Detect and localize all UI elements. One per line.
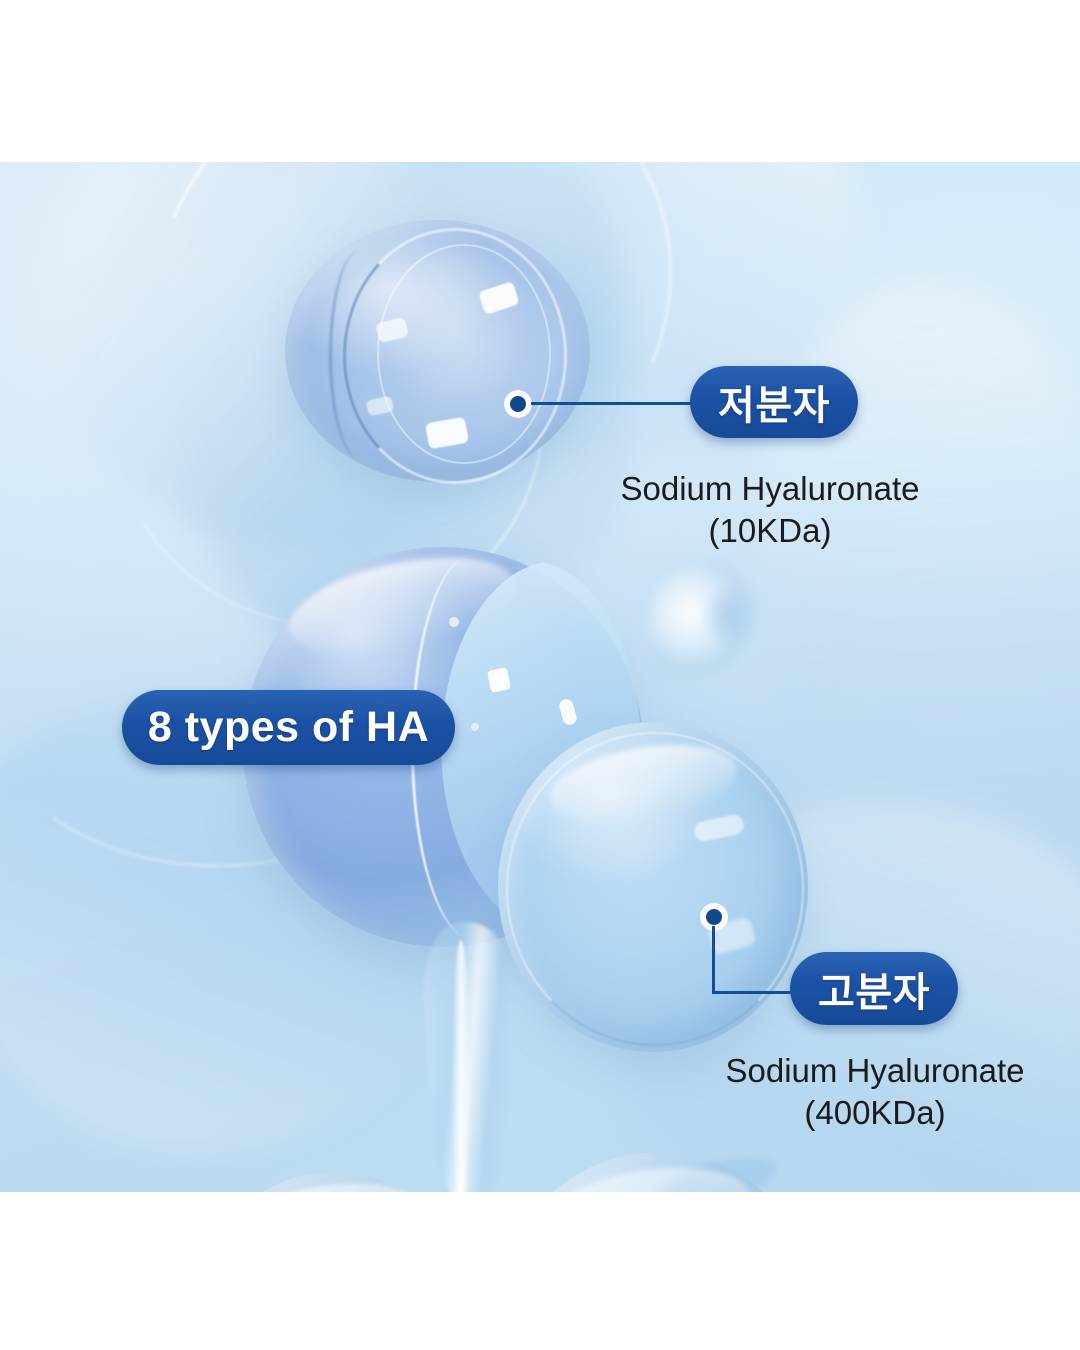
leader-line-low-molecular <box>531 402 691 405</box>
droplet-gloss <box>222 1172 431 1192</box>
badge-8-types-of-ha[interactable]: 8 types of HA <box>122 690 455 765</box>
bubble-core <box>700 580 754 650</box>
badge-low-molecular[interactable]: 저분자 <box>690 366 858 438</box>
blurred-bubble <box>648 562 766 688</box>
badge-high-molecular[interactable]: 고분자 <box>790 952 958 1025</box>
leader-line-high-vertical <box>712 926 715 994</box>
caption-line-1: Sodium Hyaluronate <box>575 1050 1080 1092</box>
caption-line-2: (10KDa) <box>470 510 1070 552</box>
caption-line-2: (400KDa) <box>575 1092 1080 1134</box>
hyaluronic-sphere-top <box>285 220 590 482</box>
sphere-rim-shadow <box>329 250 392 460</box>
caption-low-molecular: Sodium Hyaluronate (10KDa) <box>470 468 1070 552</box>
leader-line-high-horizontal <box>712 991 794 994</box>
sphere-micro-bubble <box>471 723 479 731</box>
marker-dot-low-molecular <box>505 391 531 417</box>
caption-line-1: Sodium Hyaluronate <box>470 468 1070 510</box>
sphere-highlight <box>487 667 511 693</box>
caption-high-molecular: Sodium Hyaluronate (400KDa) <box>575 1050 1080 1134</box>
gel-droplet-right <box>508 1152 808 1192</box>
gel-droplet-left <box>218 1172 448 1192</box>
sphere-micro-bubble <box>449 617 459 627</box>
hyaluronic-sphere-lower <box>498 722 808 1052</box>
product-ingredient-image <box>0 162 1080 1192</box>
